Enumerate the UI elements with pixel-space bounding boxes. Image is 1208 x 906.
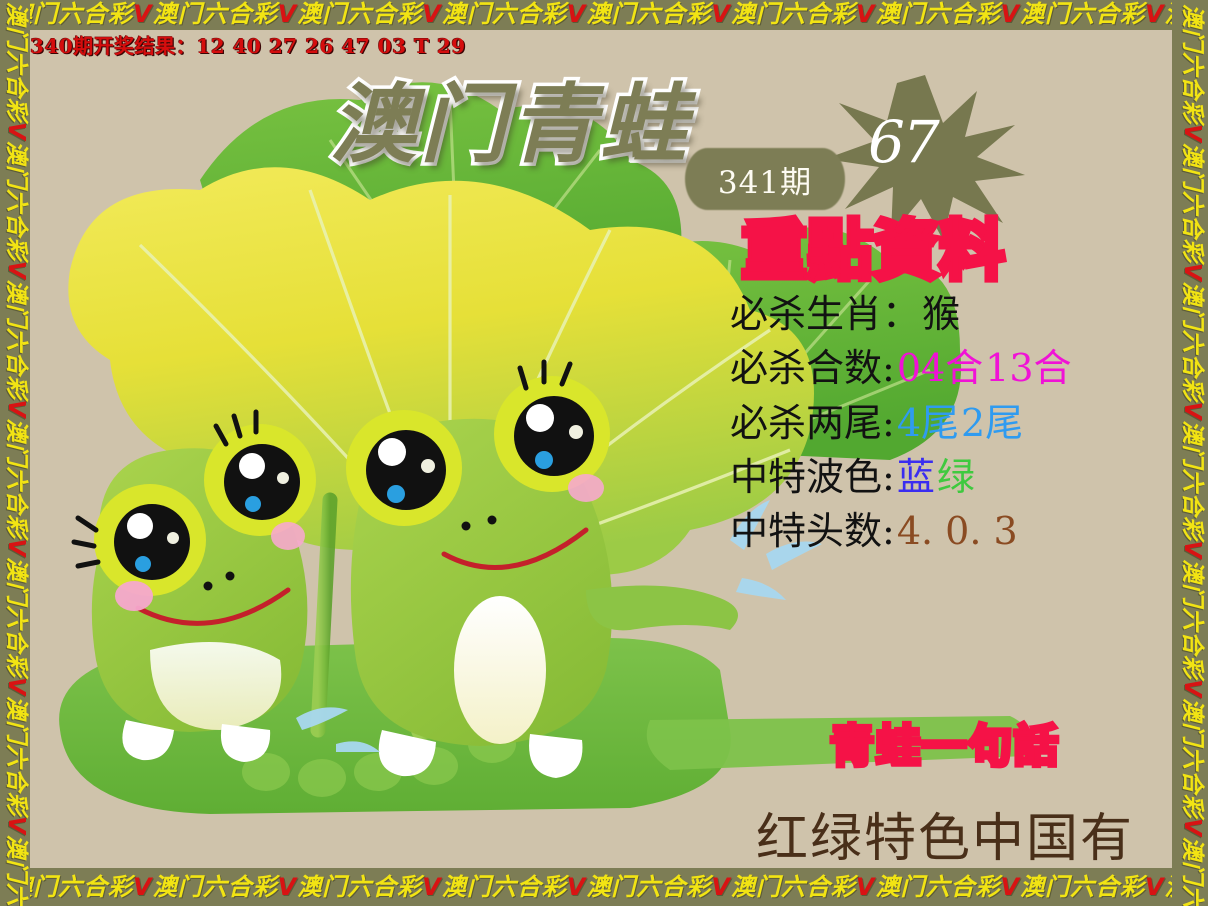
border-unit-text: 澳门六合彩	[1179, 4, 1205, 124]
border-separator: V	[3, 400, 29, 419]
info-row-value: 4尾	[897, 398, 959, 448]
border-separator: V	[1179, 540, 1205, 559]
border-separator: V	[856, 873, 876, 901]
border-right: 澳门六合彩V澳门六合彩V澳门六合彩V澳门六合彩V澳门六合彩V澳门六合彩V澳门六合…	[1172, 0, 1208, 906]
border-separator: V	[278, 873, 298, 901]
border-separator: V	[1179, 818, 1205, 837]
border-separator: V	[3, 261, 29, 280]
border-unit-text: 澳门六合彩	[3, 835, 29, 906]
border-separator: V	[711, 873, 731, 901]
border-unit-text: 澳门六合彩	[1020, 0, 1145, 28]
border-left: 澳门六合彩V澳门六合彩V澳门六合彩V澳门六合彩V澳门六合彩V澳门六合彩V澳门六合…	[0, 0, 30, 906]
star-number: 67	[868, 108, 938, 176]
border-separator: V	[3, 677, 29, 696]
border-unit-text: 澳门六合彩	[586, 873, 711, 901]
issue-badge-label: 341期	[685, 148, 845, 210]
info-row: 中特波色:蓝绿	[730, 452, 1170, 502]
border-unit-text: 澳门六合彩	[875, 873, 1000, 901]
border-unit-text: 澳门六合彩	[3, 280, 29, 400]
border-unit-text: 澳门六合彩	[1179, 282, 1205, 402]
info-row-label: 必杀合数:	[730, 343, 895, 393]
border-unit-text: 澳门六合彩	[875, 0, 1000, 28]
border-unit-text: 澳门六合彩	[3, 418, 29, 538]
border-separator: V	[1179, 124, 1205, 143]
border-top: 澳门六合彩V澳门六合彩V澳门六合彩V澳门六合彩V澳门六合彩V澳门六合彩V澳门六合…	[0, 0, 1208, 30]
info-row: 中特头数:4. 0. 3	[730, 506, 1170, 556]
border-separator: V	[711, 0, 731, 28]
border-right-pattern: 澳门六合彩V澳门六合彩V澳门六合彩V澳门六合彩V澳门六合彩V澳门六合彩V澳门六合…	[1180, 4, 1203, 906]
border-unit-text: 澳门六合彩	[3, 141, 29, 261]
border-unit-text: 澳门六合彩	[1179, 143, 1205, 263]
border-unit-text: 澳门六合彩	[1179, 420, 1205, 540]
border-top-pattern: 澳门六合彩V澳门六合彩V澳门六合彩V澳门六合彩V澳门六合彩V澳门六合彩V澳门六合…	[8, 2, 1208, 26]
border-unit-text: 澳门六合彩	[1020, 873, 1145, 901]
border-separator: V	[278, 0, 298, 28]
border-unit-text: 澳门六合彩	[586, 0, 711, 28]
border-unit-text: 澳门六合彩	[3, 2, 29, 122]
border-separator: V	[1179, 263, 1205, 282]
info-row: 必杀两尾:4尾2尾	[730, 398, 1170, 448]
border-separator: V	[3, 538, 29, 557]
info-row-label: 中特头数:	[730, 506, 895, 556]
border-separator: V	[133, 873, 153, 901]
border-separator: V	[422, 873, 442, 901]
border-bottom: 澳门六合彩V澳门六合彩V澳门六合彩V澳门六合彩V澳门六合彩V澳门六合彩V澳门六合…	[0, 868, 1208, 906]
info-row: 必杀合数:04合13合	[730, 343, 1170, 393]
border-unit-text: 澳门六合彩	[3, 557, 29, 677]
border-unit-text: 澳门六合彩	[731, 873, 856, 901]
page-title: 澳门青蛙	[330, 82, 690, 168]
border-separator: V	[856, 0, 876, 28]
info-row-value: 13合	[985, 343, 1071, 393]
border-separator: V	[1179, 402, 1205, 421]
slogan-text: 红绿特色中国有	[720, 796, 1170, 868]
border-separator: V	[133, 0, 153, 28]
info-row-label: 必杀生肖：	[730, 289, 920, 339]
border-separator: V	[1000, 873, 1020, 901]
border-separator: V	[3, 816, 29, 835]
slogan-block: 青蛙一句話 红绿特色中国有	[720, 710, 1170, 868]
border-separator: V	[567, 873, 587, 901]
border-separator: V	[567, 0, 587, 28]
info-row-label: 中特波色:	[730, 452, 895, 502]
border-unit-text: 澳门六合彩	[1179, 837, 1205, 906]
border-unit-text: 澳门六合彩	[3, 696, 29, 816]
key-info-heading: 重點資料	[742, 220, 1170, 285]
issue-badge: 341期	[685, 148, 845, 210]
key-info-rows: 必杀生肖：猴必杀合数:04合13合必杀两尾:4尾2尾中特波色:蓝绿中特头数:4.…	[730, 289, 1170, 556]
draw-result-text: 340期开奖结果：12 40 27 26 47 03 T 29	[30, 34, 466, 58]
border-bottom-pattern: 澳门六合彩V澳门六合彩V澳门六合彩V澳门六合彩V澳门六合彩V澳门六合彩V澳门六合…	[8, 875, 1208, 899]
info-row-label: 必杀两尾:	[730, 398, 895, 448]
info-row-value: 2尾	[961, 398, 1023, 448]
border-unit-text: 澳门六合彩	[297, 0, 422, 28]
border-unit-text: 澳门六合彩	[153, 873, 278, 901]
border-unit-text: 澳门六合彩	[731, 0, 856, 28]
border-separator: V	[422, 0, 442, 28]
info-row-value: 猴	[922, 289, 960, 339]
border-unit-text: 澳门六合彩	[297, 873, 422, 901]
border-unit-text: 澳门六合彩	[442, 873, 567, 901]
border-separator: V	[1179, 679, 1205, 698]
draw-result-bar: 340期开奖结果：12 40 27 26 47 03 T 29	[30, 30, 466, 59]
border-unit-text: 澳门六合彩	[1179, 698, 1205, 818]
key-info-panel: 重點資料 必杀生肖：猴必杀合数:04合13合必杀两尾:4尾2尾中特波色:蓝绿中特…	[730, 220, 1170, 556]
info-row-value: 绿	[937, 452, 975, 502]
info-row-value: 04合	[897, 343, 983, 393]
border-unit-text: 澳门六合彩	[442, 0, 567, 28]
poster-canvas: 340期开奖结果：12 40 27 26 47 03 T 29 67 341期 …	[30, 30, 1172, 868]
border-unit-text: 澳门六合彩	[153, 0, 278, 28]
border-unit-text: 澳门六合彩	[1179, 559, 1205, 679]
border-separator: V	[1145, 873, 1165, 901]
info-row-value: 4. 0. 3	[897, 506, 1018, 556]
border-separator: V	[3, 122, 29, 141]
border-separator: V	[1145, 0, 1165, 28]
slogan-heading: 青蛙一句話	[720, 710, 1170, 774]
border-left-pattern: 澳门六合彩V澳门六合彩V澳门六合彩V澳门六合彩V澳门六合彩V澳门六合彩V澳门六合…	[4, 2, 27, 906]
poster-root: 340期开奖结果：12 40 27 26 47 03 T 29 67 341期 …	[0, 0, 1208, 906]
info-row: 必杀生肖：猴	[730, 289, 1170, 339]
border-separator: V	[1000, 0, 1020, 28]
info-row-value: 蓝	[897, 452, 935, 502]
